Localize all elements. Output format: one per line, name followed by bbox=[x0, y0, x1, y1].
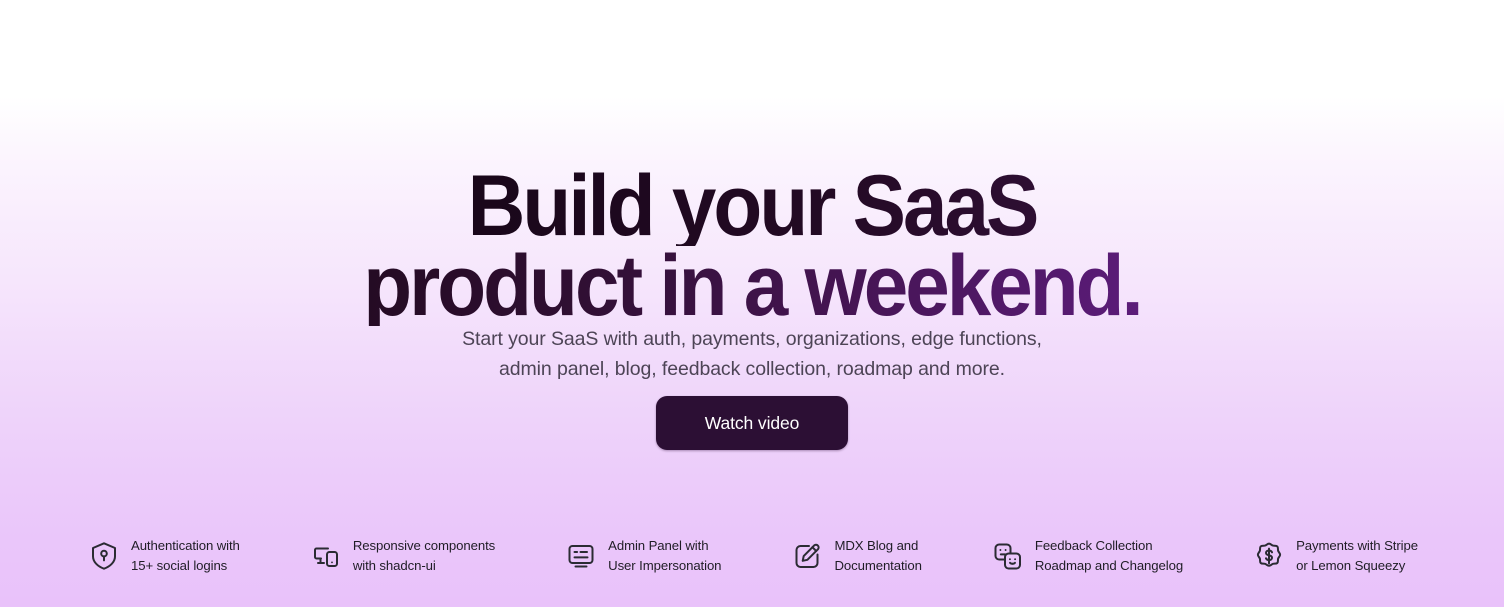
feature-label: Admin Panel with User Impersonation bbox=[608, 536, 721, 576]
feature-item-feedback: Feedback Collection Roadmap and Changelo… bbox=[992, 536, 1183, 576]
feedback-faces-icon bbox=[992, 540, 1024, 572]
feature-item-responsive: Responsive components with shadcn-ui bbox=[310, 536, 495, 576]
feature-line-2: or Lemon Squeezy bbox=[1296, 556, 1418, 576]
feature-item-blog: MDX Blog and Documentation bbox=[791, 536, 921, 576]
feature-item-authentication: Authentication with 15+ social logins bbox=[88, 536, 240, 576]
feature-item-payments: Payments with Stripe or Lemon Squeezy bbox=[1253, 536, 1418, 576]
feature-label: Payments with Stripe or Lemon Squeezy bbox=[1296, 536, 1418, 576]
feature-item-admin-panel: Admin Panel with User Impersonation bbox=[565, 536, 721, 576]
headline-line-2: product in a weekend. bbox=[53, 246, 1452, 326]
watch-video-button[interactable]: Watch video bbox=[656, 396, 848, 450]
feature-label: Feedback Collection Roadmap and Changelo… bbox=[1035, 536, 1183, 576]
feature-line-1: Payments with Stripe bbox=[1296, 536, 1418, 556]
feature-label: MDX Blog and Documentation bbox=[834, 536, 921, 576]
responsive-devices-icon bbox=[310, 540, 342, 572]
feature-label: Responsive components with shadcn-ui bbox=[353, 536, 495, 576]
pencil-edit-icon bbox=[791, 540, 823, 572]
feature-label: Authentication with 15+ social logins bbox=[131, 536, 240, 576]
feature-line-1: Responsive components bbox=[353, 536, 495, 556]
feature-line-1: Feedback Collection bbox=[1035, 536, 1183, 556]
feature-line-2: Roadmap and Changelog bbox=[1035, 556, 1183, 576]
feature-line-1: Admin Panel with bbox=[608, 536, 721, 556]
dollar-badge-icon bbox=[1253, 540, 1285, 572]
feature-line-1: MDX Blog and bbox=[834, 536, 921, 556]
feature-line-2: Documentation bbox=[834, 556, 921, 576]
hero-section: Build your SaaS product in a weekend. St… bbox=[0, 0, 1504, 607]
shield-key-icon bbox=[88, 540, 120, 572]
subtitle-line-1: Start your SaaS with auth, payments, org… bbox=[0, 324, 1504, 354]
page-title: Build your SaaS product in a weekend. bbox=[53, 166, 1452, 326]
feature-line-2: User Impersonation bbox=[608, 556, 721, 576]
feature-line-2: 15+ social logins bbox=[131, 556, 240, 576]
feature-line-1: Authentication with bbox=[131, 536, 240, 556]
subtitle-line-2: admin panel, blog, feedback collection, … bbox=[0, 354, 1504, 384]
cta-container: Watch video bbox=[0, 396, 1504, 450]
feature-line-2: with shadcn-ui bbox=[353, 556, 495, 576]
hero-subtitle: Start your SaaS with auth, payments, org… bbox=[0, 324, 1504, 384]
feature-list: Authentication with 15+ social logins Re… bbox=[88, 536, 1418, 576]
admin-panel-monitor-icon bbox=[565, 540, 597, 572]
headline-line-1: Build your SaaS bbox=[53, 166, 1452, 246]
